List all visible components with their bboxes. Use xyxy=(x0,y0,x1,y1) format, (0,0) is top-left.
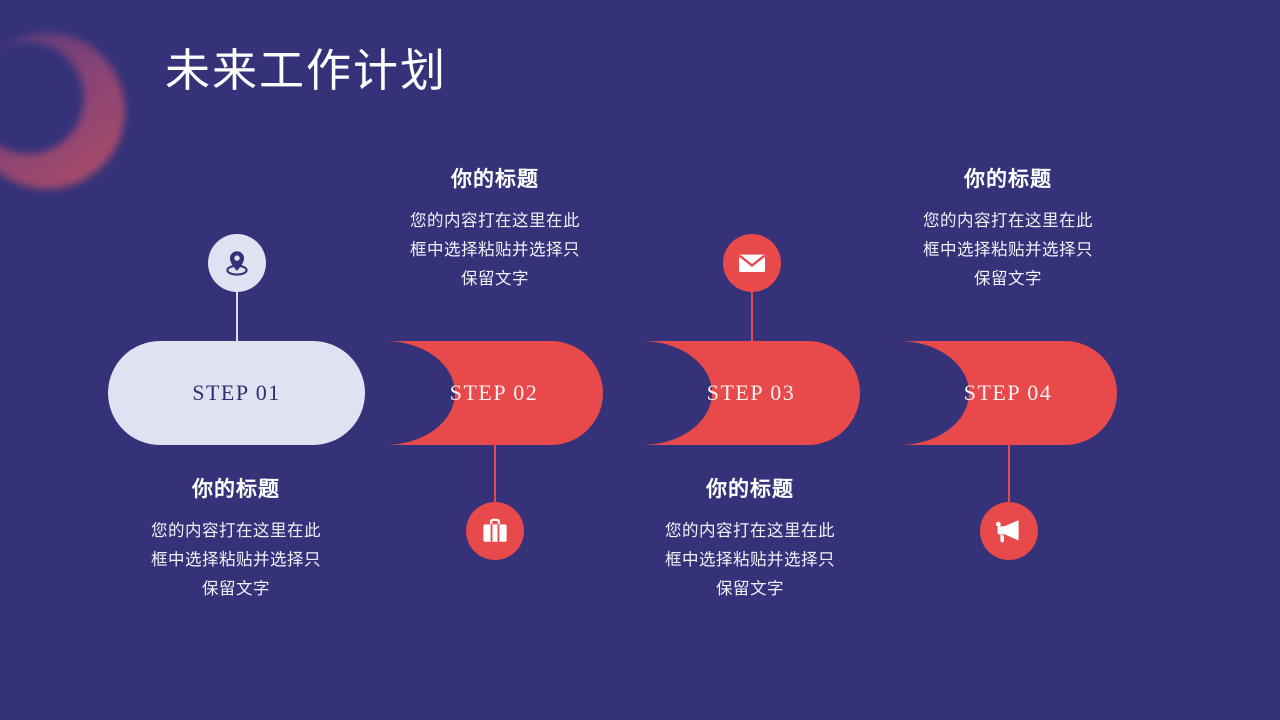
step-label-2: STEP 02 xyxy=(450,380,539,406)
crescent-ring-decoration xyxy=(0,6,152,216)
text-block-4: 你的标题 您的内容打在这里在此 框中选择粘贴并选择只 保留文字 xyxy=(858,163,1158,294)
text-block-title-2: 你的标题 xyxy=(345,163,645,193)
text-line: 框中选择粘贴并选择只 xyxy=(600,546,900,575)
text-line: 您的内容打在这里在此 xyxy=(86,517,386,546)
connector-line-step-2 xyxy=(494,444,496,502)
text-block-body-2: 您的内容打在这里在此 框中选择粘贴并选择只 保留文字 xyxy=(345,207,645,294)
location-pin-icon xyxy=(222,248,252,278)
step-item-3[interactable]: STEP 03 xyxy=(642,341,860,445)
megaphone-icon-badge[interactable] xyxy=(980,502,1038,560)
briefcase-icon-badge[interactable] xyxy=(466,502,524,560)
text-line: 保留文字 xyxy=(858,265,1158,294)
steps-row: STEP 01 STEP 02 STEP 03 STEP 04 xyxy=(0,341,1280,445)
text-block-3: 你的标题 您的内容打在这里在此 框中选择粘贴并选择只 保留文字 xyxy=(600,473,900,604)
page-title: 未来工作计划 xyxy=(165,44,447,98)
envelope-icon xyxy=(736,247,768,279)
text-line: 您的内容打在这里在此 xyxy=(858,207,1158,236)
text-block-body-3: 您的内容打在这里在此 框中选择粘贴并选择只 保留文字 xyxy=(600,517,900,604)
step-item-1[interactable]: STEP 01 xyxy=(108,341,365,445)
text-line: 框中选择粘贴并选择只 xyxy=(345,236,645,265)
step-label-1: STEP 01 xyxy=(192,380,281,406)
connector-line-step-1 xyxy=(236,292,238,342)
text-line: 框中选择粘贴并选择只 xyxy=(858,236,1158,265)
slide-canvas: 未来工作计划 STEP 01 STEP 02 STEP 03 xyxy=(0,0,1280,720)
text-block-body-4: 您的内容打在这里在此 框中选择粘贴并选择只 保留文字 xyxy=(858,207,1158,294)
text-block-1: 你的标题 您的内容打在这里在此 框中选择粘贴并选择只 保留文字 xyxy=(86,473,386,604)
connector-line-step-4 xyxy=(1008,444,1010,502)
text-line: 您的内容打在这里在此 xyxy=(600,517,900,546)
location-pin-icon-badge[interactable] xyxy=(208,234,266,292)
text-block-body-1: 您的内容打在这里在此 框中选择粘贴并选择只 保留文字 xyxy=(86,517,386,604)
megaphone-icon xyxy=(993,515,1025,547)
text-line: 保留文字 xyxy=(600,575,900,604)
text-block-title-3: 你的标题 xyxy=(600,473,900,503)
text-block-title-4: 你的标题 xyxy=(858,163,1158,193)
text-line: 框中选择粘贴并选择只 xyxy=(86,546,386,575)
text-line: 保留文字 xyxy=(86,575,386,604)
text-block-2: 你的标题 您的内容打在这里在此 框中选择粘贴并选择只 保留文字 xyxy=(345,163,645,294)
step-item-2[interactable]: STEP 02 xyxy=(385,341,603,445)
connector-line-step-3 xyxy=(751,292,753,342)
text-block-title-1: 你的标题 xyxy=(86,473,386,503)
briefcase-icon xyxy=(480,516,510,546)
text-line: 您的内容打在这里在此 xyxy=(345,207,645,236)
step-item-4[interactable]: STEP 04 xyxy=(899,341,1117,445)
step-label-4: STEP 04 xyxy=(964,380,1053,406)
text-line: 保留文字 xyxy=(345,265,645,294)
envelope-icon-badge[interactable] xyxy=(723,234,781,292)
step-label-3: STEP 03 xyxy=(707,380,796,406)
